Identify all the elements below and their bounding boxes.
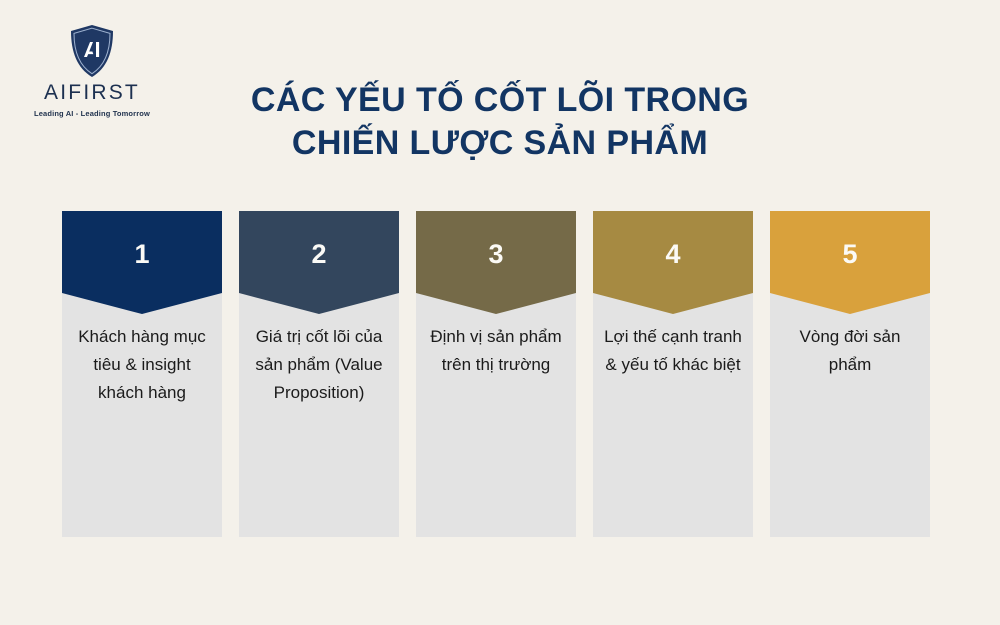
card-number-4: 4 xyxy=(665,241,680,268)
card-label-4: Lợi thế cạnh tranh & yếu tố khác biệt xyxy=(593,323,753,379)
card-number-2: 2 xyxy=(311,241,326,268)
ai-shield-icon xyxy=(69,24,115,78)
core-element-card-3: Định vị sản phẩm trên thị trường 3 xyxy=(416,211,576,537)
card-header-4: 4 xyxy=(593,211,753,293)
card-number-1: 1 xyxy=(134,241,149,268)
core-element-card-4: Lợi thế cạnh tranh & yếu tố khác biệt 4 xyxy=(593,211,753,537)
card-number-3: 3 xyxy=(488,241,503,268)
card-number-5: 5 xyxy=(842,241,857,268)
card-label-2: Giá trị cốt lõi của sản phẩm (Value Prop… xyxy=(239,323,399,408)
logo-wordmark: AIFIRST xyxy=(22,82,162,103)
card-header-1: 1 xyxy=(62,211,222,293)
page-title: CÁC YẾU TỐ CỐT LÕI TRONG CHIẾN LƯỢC SẢN … xyxy=(200,79,800,166)
card-notch-1 xyxy=(62,293,222,314)
card-notch-3 xyxy=(416,293,576,314)
card-header-2: 2 xyxy=(239,211,399,293)
core-element-card-1: Khách hàng mục tiêu & insight khách hàng… xyxy=(62,211,222,537)
core-elements-card-row: Khách hàng mục tiêu & insight khách hàng… xyxy=(62,211,934,537)
card-notch-5 xyxy=(770,293,930,314)
logo-tagline: Leading AI - Leading Tomorrow xyxy=(22,110,162,118)
card-notch-4 xyxy=(593,293,753,314)
core-element-card-5: Vòng đời sản phẩm 5 xyxy=(770,211,930,537)
card-header-3: 3 xyxy=(416,211,576,293)
card-label-5: Vòng đời sản phẩm xyxy=(770,323,930,379)
card-label-1: Khách hàng mục tiêu & insight khách hàng xyxy=(62,323,222,408)
brand-logo: AIFIRST Leading AI - Leading Tomorrow xyxy=(22,24,162,118)
card-notch-2 xyxy=(239,293,399,314)
page-title-line-1: CÁC YẾU TỐ CỐT LÕI TRONG xyxy=(200,79,800,123)
card-label-3: Định vị sản phẩm trên thị trường xyxy=(416,323,576,379)
card-header-5: 5 xyxy=(770,211,930,293)
page-title-line-2: CHIẾN LƯỢC SẢN PHẨM xyxy=(200,122,800,166)
core-element-card-2: Giá trị cốt lõi của sản phẩm (Value Prop… xyxy=(239,211,399,537)
